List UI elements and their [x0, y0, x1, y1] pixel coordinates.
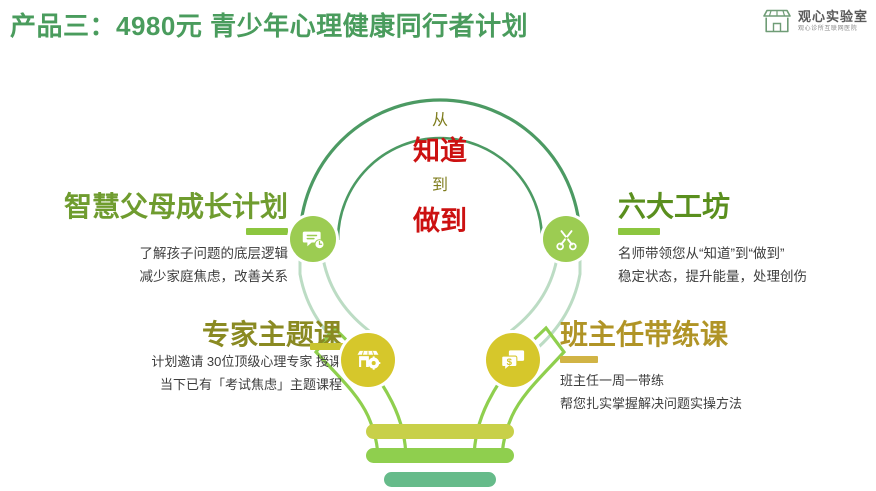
bulb-base-bar-2	[366, 448, 514, 463]
feature-line-tutor-1: 班主任一周一带练	[560, 370, 830, 393]
feature-accent-workshops	[618, 228, 660, 235]
feature-block-expert: 专家主题课 计划邀请 30位顶级心理专家 授课 当下已有「考试焦虑」主题课程	[60, 320, 342, 396]
chat-clock-icon[interactable]	[290, 216, 336, 262]
feature-title-tutor: 班主任带练课	[560, 320, 830, 351]
center-from-label: 从	[370, 112, 510, 130]
storefront-icon	[762, 8, 792, 34]
feature-block-parents: 智慧父母成长计划 了解孩子问题的底层逻辑 减少家庭焦虑，改善关系	[18, 192, 288, 289]
feature-line-workshops-1: 名师带领您从“知道”到“做到”	[618, 242, 868, 266]
center-to-label: 到	[370, 177, 510, 195]
logo-text-group: 观心实验室 观心诊所互联网医院	[798, 10, 868, 32]
page-title: 产品三：4980元 青少年心理健康同行者计划	[10, 6, 528, 43]
svg-text:$: $	[507, 357, 513, 368]
feature-block-tutor: 班主任带练课 班主任一周一带练 帮您扎实掌握解决问题实操方法	[560, 320, 830, 415]
feature-line-expert-2: 当下已有「考试焦虑」主题课程	[60, 374, 342, 397]
feature-title-workshops: 六大工坊	[618, 192, 868, 223]
feature-line-parents-1: 了解孩子问题的底层逻辑	[18, 242, 288, 266]
feature-line-workshops-2: 稳定状态，提升能量，处理创伤	[618, 265, 868, 289]
feature-title-expert: 专家主题课	[202, 320, 342, 351]
center-know-label: 知道	[370, 136, 510, 167]
bulb-base-bar-3	[384, 472, 496, 487]
feature-line-tutor-2: 帮您扎实掌握解决问题实操方法	[560, 393, 830, 416]
center-message: 从 知道 到 做到	[370, 110, 510, 243]
scissors-icon[interactable]	[543, 216, 589, 262]
feature-line-parents-2: 减少家庭焦虑，改善关系	[18, 265, 288, 289]
shop-gear-icon[interactable]	[341, 333, 395, 387]
feature-line-expert-1: 计划邀请 30位顶级心理专家 授课	[60, 351, 342, 374]
feature-title-parents: 智慧父母成长计划	[18, 192, 288, 223]
chat-money-icon[interactable]: $	[486, 333, 540, 387]
feature-accent-parents	[246, 228, 288, 235]
center-do-label: 做到	[370, 206, 510, 237]
feature-block-workshops: 六大工坊 名师带领您从“知道”到“做到” 稳定状态，提升能量，处理创伤	[618, 192, 868, 289]
feature-accent-expert	[310, 343, 344, 350]
feature-accent-tutor	[560, 356, 598, 363]
logo-subtitle: 观心诊所互联网医院	[798, 26, 868, 32]
logo-name: 观心实验室	[798, 10, 868, 23]
brand-logo: 观心实验室 观心诊所互联网医院	[762, 8, 868, 34]
bulb-base-bar-1	[366, 424, 514, 439]
slide-canvas: 产品三：4980元 青少年心理健康同行者计划 观心实验室 观心诊所互联网医院	[0, 0, 876, 491]
